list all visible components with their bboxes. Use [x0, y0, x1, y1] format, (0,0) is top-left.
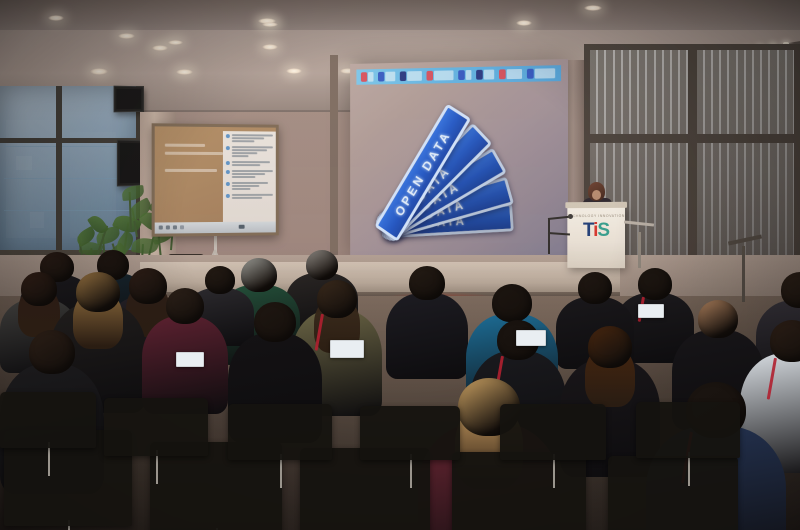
laptop[interactable]	[516, 330, 546, 346]
blind-slat	[727, 44, 729, 272]
downlight	[584, 5, 602, 11]
plant-leaf	[121, 185, 144, 201]
feed-item[interactable]	[226, 194, 273, 200]
logo-partner-text-mark	[400, 71, 406, 81]
logo-running-figure-wordmark	[507, 69, 522, 79]
screen-toolbar	[155, 221, 276, 233]
blind-slat	[777, 44, 779, 272]
presenter-face	[592, 190, 601, 200]
blind-slat	[662, 44, 664, 272]
audience-chair[interactable]	[636, 402, 740, 458]
logo-network-node-mark	[477, 70, 484, 80]
feed-text-line	[232, 185, 259, 187]
logo-swiss-confederation-mark	[361, 72, 367, 82]
feed-avatar	[226, 161, 230, 165]
person-head	[578, 272, 612, 304]
tis-letter-t: T	[583, 220, 593, 241]
feed-text-block	[232, 161, 273, 167]
feed-avatar	[226, 182, 230, 186]
downlight	[48, 15, 64, 21]
feed-text-line	[232, 197, 262, 199]
wall-monitor-upper	[114, 86, 144, 113]
audience-chair[interactable]	[608, 456, 738, 530]
feed-text-line	[232, 152, 257, 154]
downlight	[118, 33, 135, 39]
blind-slat	[768, 44, 770, 272]
podium-microphone-head	[568, 214, 573, 219]
logo-swiss-confederation-wordmark	[368, 72, 373, 82]
open-data-plate-graphic: OPEN DATADATADATADATADATA	[363, 112, 559, 249]
feed-text-line	[232, 176, 256, 178]
feed-text-line	[232, 137, 264, 139]
downlight	[176, 69, 193, 75]
person-head	[29, 330, 75, 374]
feed-item[interactable]	[226, 146, 273, 158]
social-feed-pane	[223, 131, 276, 228]
blind-slat	[711, 44, 713, 272]
blind-slat	[645, 44, 647, 272]
laptop-screen	[639, 305, 663, 317]
light-stand-pole	[742, 246, 745, 302]
blind-slat	[736, 44, 738, 272]
tis-logo: TiS	[567, 220, 625, 242]
slide-text-lines	[165, 144, 223, 177]
laptop[interactable]	[638, 304, 664, 318]
feed-avatar	[226, 170, 230, 174]
blind-slat	[785, 44, 787, 272]
logo-swiss-confederation	[361, 72, 374, 82]
p-maroon-sweater	[142, 288, 228, 386]
audience-chair[interactable]	[104, 398, 208, 456]
laptop-screen	[177, 353, 203, 366]
speaker-podium: TECHNOLOGY INNOVATION TiS	[567, 206, 625, 268]
logo-institute-circle-wordmark	[434, 70, 454, 80]
laptop[interactable]	[176, 352, 204, 367]
tripod-projection-screen	[152, 123, 279, 236]
podium-top	[565, 202, 627, 208]
feed-item[interactable]	[226, 161, 273, 167]
laptop-screen	[331, 341, 363, 357]
feed-avatar	[226, 194, 230, 198]
logo-running-figure-mark	[499, 69, 506, 79]
logo-arrow-mark-mark	[527, 69, 534, 79]
audience-chair[interactable]	[500, 404, 606, 460]
feed-avatar	[226, 134, 230, 138]
facade-line	[4, 146, 134, 147]
logo-open-knowledge-mark	[459, 70, 466, 80]
logo-partner-text-wordmark	[408, 71, 423, 81]
person-head	[638, 268, 672, 300]
downlight	[262, 22, 278, 27]
downlight	[516, 20, 532, 26]
person-head	[409, 266, 445, 300]
feed-text-block	[232, 134, 273, 143]
feed-text-block	[232, 194, 273, 200]
slide-text-line	[165, 169, 217, 172]
ceiling-soffit	[0, 0, 800, 30]
person-head	[770, 320, 800, 362]
p-dark-jacket-mid	[228, 302, 322, 412]
logo-institute-circle	[427, 70, 454, 80]
logo-partner-red-wordmark	[386, 72, 396, 82]
blind-slat	[678, 44, 680, 272]
logo-partner-text	[400, 71, 422, 81]
podium-microphone-stand	[548, 218, 550, 254]
feed-text-line	[232, 188, 250, 190]
audience-chair[interactable]	[360, 406, 460, 460]
downlight	[286, 68, 302, 74]
feed-text-line	[232, 194, 273, 196]
logo-network-node-wordmark	[484, 70, 494, 80]
slide-text-line	[165, 144, 205, 147]
downlight	[152, 45, 168, 51]
conference-room-photo: OPEN DATADATADATADATADATA TECHNOL	[0, 0, 800, 530]
blind-slat	[629, 44, 631, 272]
feed-item[interactable]	[226, 134, 273, 143]
feed-text-block	[232, 146, 273, 158]
feed-text-line	[232, 134, 273, 136]
main-projection-screen: OPEN DATADATADATADATADATA	[350, 59, 568, 261]
screen-left-edge	[330, 55, 338, 265]
person-head	[306, 250, 338, 280]
laptop[interactable]	[330, 340, 364, 358]
stand-leg	[638, 232, 641, 268]
logo-institute-circle-mark	[427, 71, 433, 81]
blind-slat	[719, 44, 721, 272]
blind-slat	[670, 44, 672, 272]
person-head	[254, 302, 296, 342]
logo-network-node	[477, 70, 495, 80]
downlight	[90, 68, 108, 75]
p-center-suit	[386, 266, 468, 352]
window-reflection	[16, 156, 32, 170]
feed-text-line	[232, 149, 267, 151]
laptop-screen	[517, 331, 545, 345]
logo-open-knowledge-wordmark	[466, 70, 472, 80]
audience-chair[interactable]	[228, 404, 332, 460]
downlight	[262, 44, 278, 50]
blind-slat	[703, 44, 705, 272]
feed-text-line	[232, 182, 268, 184]
person-head	[492, 284, 532, 322]
feed-avatar	[226, 146, 230, 150]
audience-chair[interactable]	[0, 392, 96, 448]
feed-item[interactable]	[226, 182, 273, 191]
feed-text-line	[232, 173, 265, 175]
sponsor-logo-bar	[356, 65, 561, 85]
person-head	[698, 300, 738, 338]
feed-text-block	[232, 170, 273, 179]
logo-arrow-mark	[527, 68, 555, 78]
window-mullion	[56, 86, 62, 262]
feed-text-line	[232, 164, 261, 166]
feed-text-line	[232, 155, 248, 157]
audience-chair[interactable]	[452, 452, 586, 530]
podium-tagline: TECHNOLOGY INNOVATION	[567, 214, 625, 218]
feed-text-block	[232, 182, 273, 191]
logo-arrow-mark-wordmark	[535, 68, 556, 78]
downlight	[168, 40, 183, 45]
window-reflection	[30, 212, 44, 228]
logo-partner-red	[378, 72, 395, 82]
feed-text-line	[232, 161, 270, 163]
feed-item[interactable]	[226, 170, 273, 179]
person-head	[166, 288, 204, 324]
logo-open-knowledge	[459, 70, 472, 80]
feed-text-line	[232, 170, 273, 172]
person-head	[76, 272, 120, 312]
tis-letter-s: S	[597, 220, 609, 241]
feed-text-line	[232, 146, 273, 148]
blind-slat	[654, 44, 656, 272]
person-head	[317, 280, 357, 318]
logo-running-figure	[499, 69, 522, 79]
person-head	[588, 326, 632, 368]
feed-text-line	[232, 140, 254, 142]
person-torso	[386, 293, 468, 379]
slide-text-line	[165, 152, 223, 155]
logo-partner-red-mark	[378, 72, 384, 82]
